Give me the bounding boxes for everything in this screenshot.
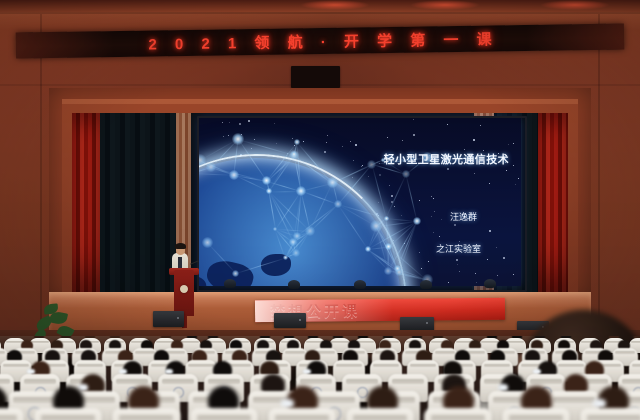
- seat-headrest-band: [119, 415, 173, 420]
- star: [441, 219, 442, 220]
- seat-headrest-band: [285, 351, 306, 354]
- seat-headrest-band: [353, 415, 407, 420]
- star: [431, 196, 432, 197]
- star: [434, 211, 435, 212]
- star: [428, 261, 429, 262]
- star: [489, 230, 491, 232]
- seat-headrest-band: [558, 364, 584, 368]
- seat-headrest-band: [631, 341, 640, 343]
- wall-vent-panel: [291, 66, 340, 88]
- red-curtain-right: [538, 113, 568, 300]
- audience-seating-area: [0, 336, 640, 420]
- seat-headrest-band: [435, 351, 456, 354]
- seat-headrest-band: [13, 397, 55, 402]
- speaking-podium: [174, 270, 194, 316]
- stage-monitor-speaker: [274, 313, 306, 328]
- seat-headrest-band: [77, 364, 103, 368]
- star: [413, 134, 415, 136]
- seat-headrest-band: [162, 379, 194, 383]
- presentation-screen: 轻小型卫星激光通信技术 汪逸群 之江实验室: [199, 118, 521, 286]
- network-node: [294, 139, 300, 145]
- wall-seam: [0, 12, 640, 14]
- network-node: [289, 238, 297, 246]
- slide-organization-text: 之江实验室: [436, 242, 481, 255]
- seat-headrest-band: [509, 415, 563, 420]
- star: [489, 183, 490, 184]
- star: [456, 259, 458, 261]
- star: [518, 178, 519, 179]
- seat-headrest-band: [24, 379, 56, 383]
- star: [433, 232, 434, 233]
- star: [274, 123, 275, 124]
- star: [476, 282, 477, 283]
- star: [464, 149, 465, 150]
- star: [350, 141, 351, 142]
- seat-headrest-band: [410, 364, 436, 368]
- seat-headrest-band: [622, 379, 640, 383]
- network-node: [206, 162, 216, 172]
- stage-monitor-speaker: [153, 311, 184, 327]
- star: [401, 215, 402, 216]
- seat-headrest-band: [431, 415, 485, 420]
- star: [359, 190, 360, 191]
- star: [292, 138, 293, 139]
- star: [239, 123, 241, 125]
- network-node: [202, 237, 213, 248]
- stage-foot-light: [354, 280, 366, 289]
- star: [251, 148, 252, 149]
- star: [419, 200, 420, 201]
- speaker-hair: [175, 243, 186, 249]
- ceiling-light-glow: [300, 0, 370, 10]
- seat-headrest-band: [615, 351, 636, 354]
- star: [480, 125, 481, 126]
- network-node: [365, 246, 371, 252]
- star: [508, 144, 509, 145]
- seat-headrest-band: [632, 364, 640, 368]
- seat-headrest-band: [0, 379, 10, 383]
- star: [391, 195, 393, 197]
- star: [419, 252, 420, 253]
- ceiling-light-glow: [540, 0, 610, 10]
- star: [228, 135, 229, 136]
- network-node: [384, 267, 392, 275]
- network-node: [334, 200, 342, 208]
- star: [324, 151, 326, 153]
- star: [254, 139, 255, 140]
- star: [497, 275, 498, 276]
- slide-author-text: 汪逸群: [450, 210, 477, 223]
- seat-headrest-band: [135, 351, 156, 354]
- star: [389, 185, 390, 186]
- network-node: [232, 270, 239, 277]
- star: [454, 224, 456, 226]
- star: [379, 174, 381, 176]
- seat-headrest-band: [41, 415, 95, 420]
- proscenium-top-lip: [62, 99, 578, 104]
- star: [421, 268, 422, 269]
- star: [326, 142, 327, 143]
- seat-headrest-band: [481, 341, 499, 343]
- star: [473, 139, 475, 141]
- seat-headrest-band: [3, 364, 29, 368]
- stage-opening: 轻小型卫星激光通信技术 汪逸群 之江实验室: [72, 113, 568, 300]
- star: [402, 140, 403, 141]
- seat-headrest-band: [188, 364, 214, 368]
- network-node: [394, 265, 401, 272]
- star: [352, 177, 353, 178]
- star: [503, 257, 505, 259]
- seat-headrest-band: [553, 397, 595, 402]
- star: [459, 271, 460, 272]
- seat-headrest-band: [197, 415, 251, 420]
- stage-foot-light: [288, 280, 300, 289]
- star: [355, 144, 357, 146]
- star: [353, 160, 354, 161]
- seat-headrest-band: [181, 341, 199, 343]
- star: [475, 273, 476, 274]
- star: [448, 282, 449, 283]
- star: [223, 136, 224, 137]
- star: [276, 143, 277, 144]
- stage-foot-light: [484, 279, 496, 288]
- star: [433, 198, 434, 199]
- slide-title-text: 轻小型卫星激光通信技术: [384, 151, 509, 167]
- seat-headrest-band: [313, 397, 355, 402]
- network-node: [296, 186, 306, 196]
- seat-headrest-band: [587, 415, 640, 420]
- network-node: [384, 216, 389, 221]
- star: [506, 170, 507, 171]
- star: [447, 168, 449, 170]
- star: [496, 247, 497, 248]
- star: [240, 154, 242, 156]
- face-mask: [281, 399, 294, 408]
- face-mask: [593, 399, 606, 408]
- seat-headrest-band: [506, 341, 524, 343]
- star: [248, 120, 250, 122]
- wall-seam: [40, 14, 42, 334]
- star: [431, 216, 432, 217]
- seat-headrest-band: [392, 379, 424, 383]
- podium-emblem-icon: [180, 285, 188, 293]
- star: [487, 259, 488, 260]
- star: [513, 143, 514, 144]
- star: [361, 166, 362, 167]
- star: [362, 165, 363, 166]
- network-node: [367, 160, 376, 169]
- stage-foot-light: [224, 279, 236, 288]
- star: [513, 165, 514, 166]
- star: [387, 137, 388, 138]
- seat-headrest-band: [0, 415, 17, 420]
- red-curtain-left: [72, 113, 100, 300]
- led-banner-text: 2 0 2 1 领 航 · 开 学 第 一 课: [141, 28, 498, 54]
- network-node: [229, 170, 239, 180]
- auditorium-photo: 2 0 2 1 领 航 · 开 学 第 一 课: [0, 0, 640, 420]
- seat-headrest-band: [373, 364, 399, 368]
- seat-headrest-band: [530, 379, 562, 383]
- seat-headrest-band: [484, 364, 510, 368]
- seat-headrest-band: [346, 379, 378, 383]
- star: [447, 124, 448, 125]
- stage-foot-light: [420, 280, 432, 289]
- star: [457, 264, 458, 265]
- stage-monitor-speaker: [400, 317, 434, 331]
- seat-headrest-band: [208, 379, 240, 383]
- star: [513, 274, 514, 275]
- star: [342, 146, 343, 147]
- ceiling-light-glow: [410, 0, 480, 10]
- seat-headrest-band: [336, 364, 362, 368]
- star: [515, 184, 516, 185]
- star: [474, 173, 475, 174]
- star: [222, 122, 223, 123]
- seat-headrest-band: [275, 415, 329, 420]
- seat-headrest-band: [331, 341, 349, 343]
- star: [378, 202, 379, 203]
- seat-headrest-band: [116, 379, 148, 383]
- seat-headrest-band: [31, 341, 49, 343]
- star: [368, 176, 369, 177]
- star: [439, 236, 440, 237]
- face-mask: [498, 384, 508, 391]
- star: [229, 122, 230, 123]
- wall-seam: [598, 14, 600, 334]
- seat-headrest-band: [300, 379, 332, 383]
- star: [413, 119, 414, 120]
- star: [394, 206, 395, 207]
- star: [327, 135, 328, 136]
- star: [303, 141, 304, 142]
- network-node: [232, 133, 244, 145]
